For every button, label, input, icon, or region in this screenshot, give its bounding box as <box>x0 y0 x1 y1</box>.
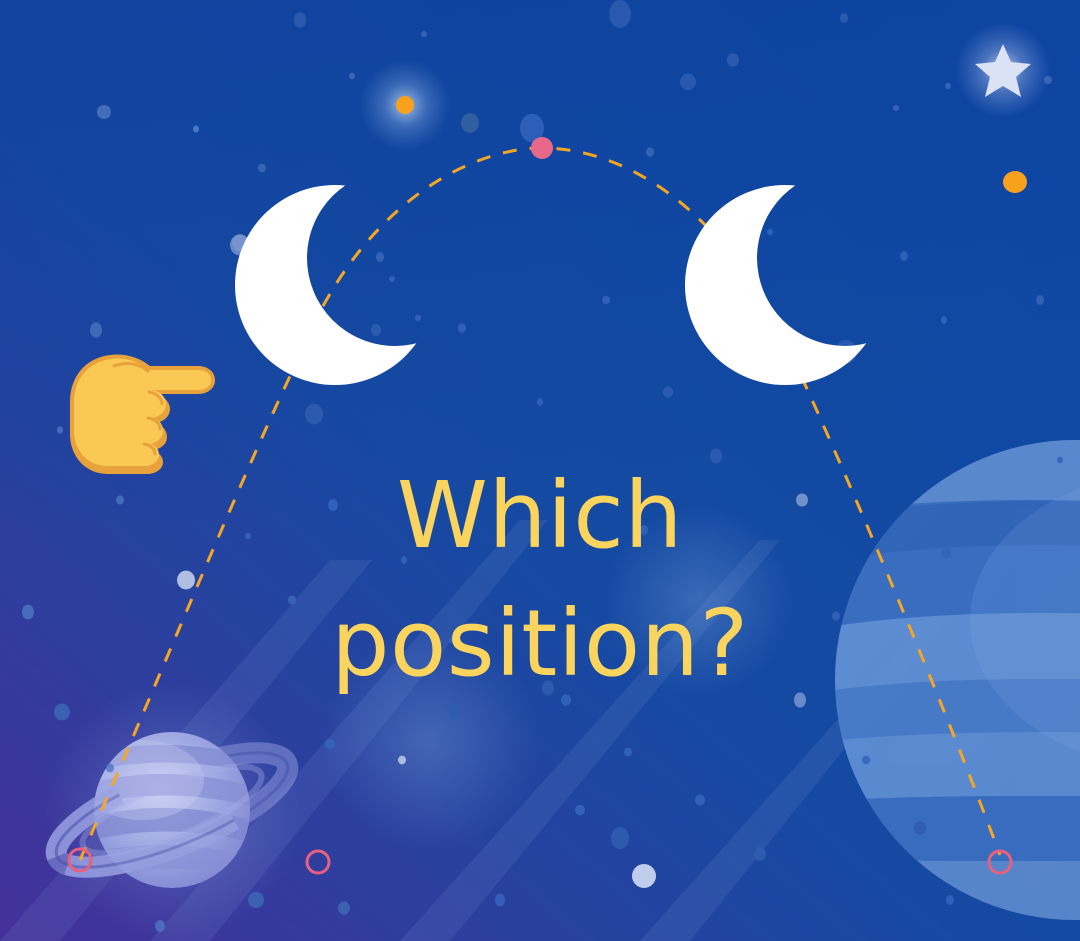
space-scene: Which position? <box>0 0 1080 941</box>
apex-position-dot[interactable] <box>531 137 553 159</box>
question-text: Which position? <box>0 452 1080 708</box>
